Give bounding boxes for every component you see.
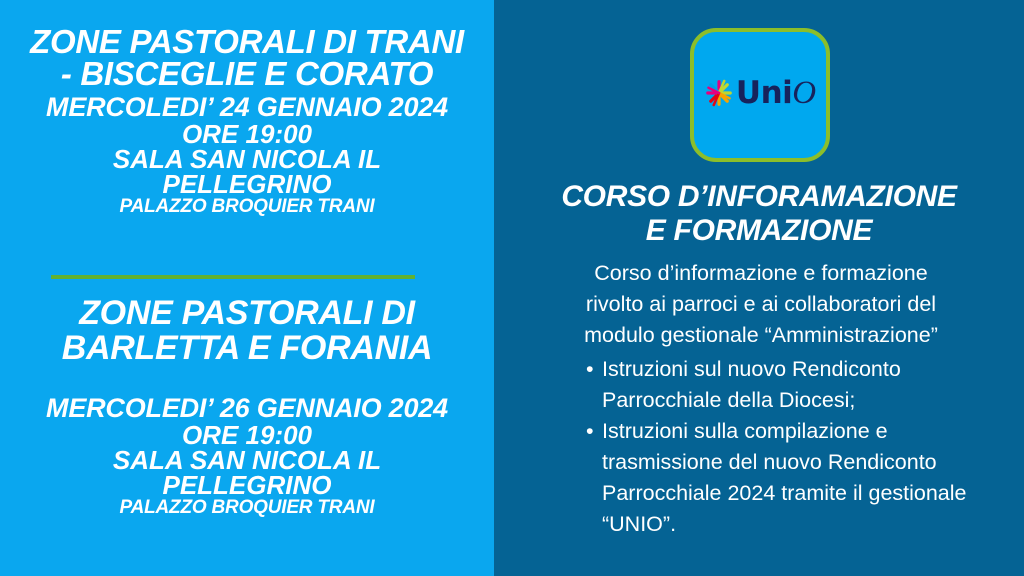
bullet-glyph: •: [586, 354, 594, 385]
event-two-venue: SALA SAN NICOLA IL PELLEGRINO: [0, 448, 494, 498]
event-two-date: MERCOLEDI’ 26 GENNAIO 2024: [0, 395, 494, 422]
list-item: •Istruzioni sulla compilazione e trasmis…: [586, 416, 998, 541]
unio-wordmark: UniO: [736, 77, 816, 110]
event-two-title: ZONE PASTORALI DI BARLETTA E FORANIA: [0, 296, 494, 365]
event-two-address: PALAZZO BROQUIER TRANI: [0, 498, 494, 517]
event-one-date: MERCOLEDI’ 24 GENNAIO 2024: [0, 94, 494, 121]
list-item-text: Istruzioni sulla compilazione e trasmiss…: [602, 419, 967, 537]
poster-root: ZONE PASTORALI DI TRANI - BISCEGLIE E CO…: [0, 0, 1024, 576]
unio-wordmark-main: Uni: [736, 75, 792, 111]
course-title-line-1: CORSO D’INFORAMAZIONE: [512, 180, 1006, 214]
event-one-venue: SALA SAN NICOLA IL PELLEGRINO: [0, 147, 494, 197]
unio-wordmark-accent: O: [792, 75, 816, 111]
course-intro: Corso d’informazione e formazione rivolt…: [524, 258, 998, 352]
course-title: CORSO D’INFORAMAZIONE E FORMAZIONE: [494, 180, 1024, 247]
course-intro-line-1: Corso d’informazione e formazione: [594, 261, 927, 285]
course-bullet-list: •Istruzioni sul nuovo Rendiconto Parrocc…: [524, 354, 998, 541]
course-intro-line-2: rivolto ai parroci e ai collaboratori de…: [586, 292, 936, 316]
unio-starburst-icon: [704, 78, 734, 108]
unio-logo-tile: UniO: [690, 28, 830, 162]
section-divider: [51, 275, 415, 279]
left-panel: ZONE PASTORALI DI TRANI - BISCEGLIE E CO…: [0, 0, 494, 576]
course-intro-line-3: modulo gestionale “Amministrazione”: [584, 323, 938, 347]
event-two-block: ZONE PASTORALI DI BARLETTA E FORANIA MER…: [0, 296, 494, 517]
right-panel: UniO CORSO D’INFORAMAZIONE E FORMAZIONE …: [494, 0, 1024, 576]
course-title-line-2: E FORMAZIONE: [512, 214, 1006, 248]
bullet-glyph: •: [586, 416, 594, 447]
course-body: Corso d’informazione e formazione rivolt…: [494, 258, 1024, 541]
unio-logo-lockup: UniO: [704, 77, 816, 110]
list-item-text: Istruzioni sul nuovo Rendiconto Parrocch…: [602, 357, 901, 412]
event-one-block: ZONE PASTORALI DI TRANI - BISCEGLIE E CO…: [0, 26, 494, 216]
list-item: •Istruzioni sul nuovo Rendiconto Parrocc…: [586, 354, 998, 416]
event-one-title: ZONE PASTORALI DI TRANI - BISCEGLIE E CO…: [0, 26, 494, 90]
event-one-address: PALAZZO BROQUIER TRANI: [0, 197, 494, 216]
